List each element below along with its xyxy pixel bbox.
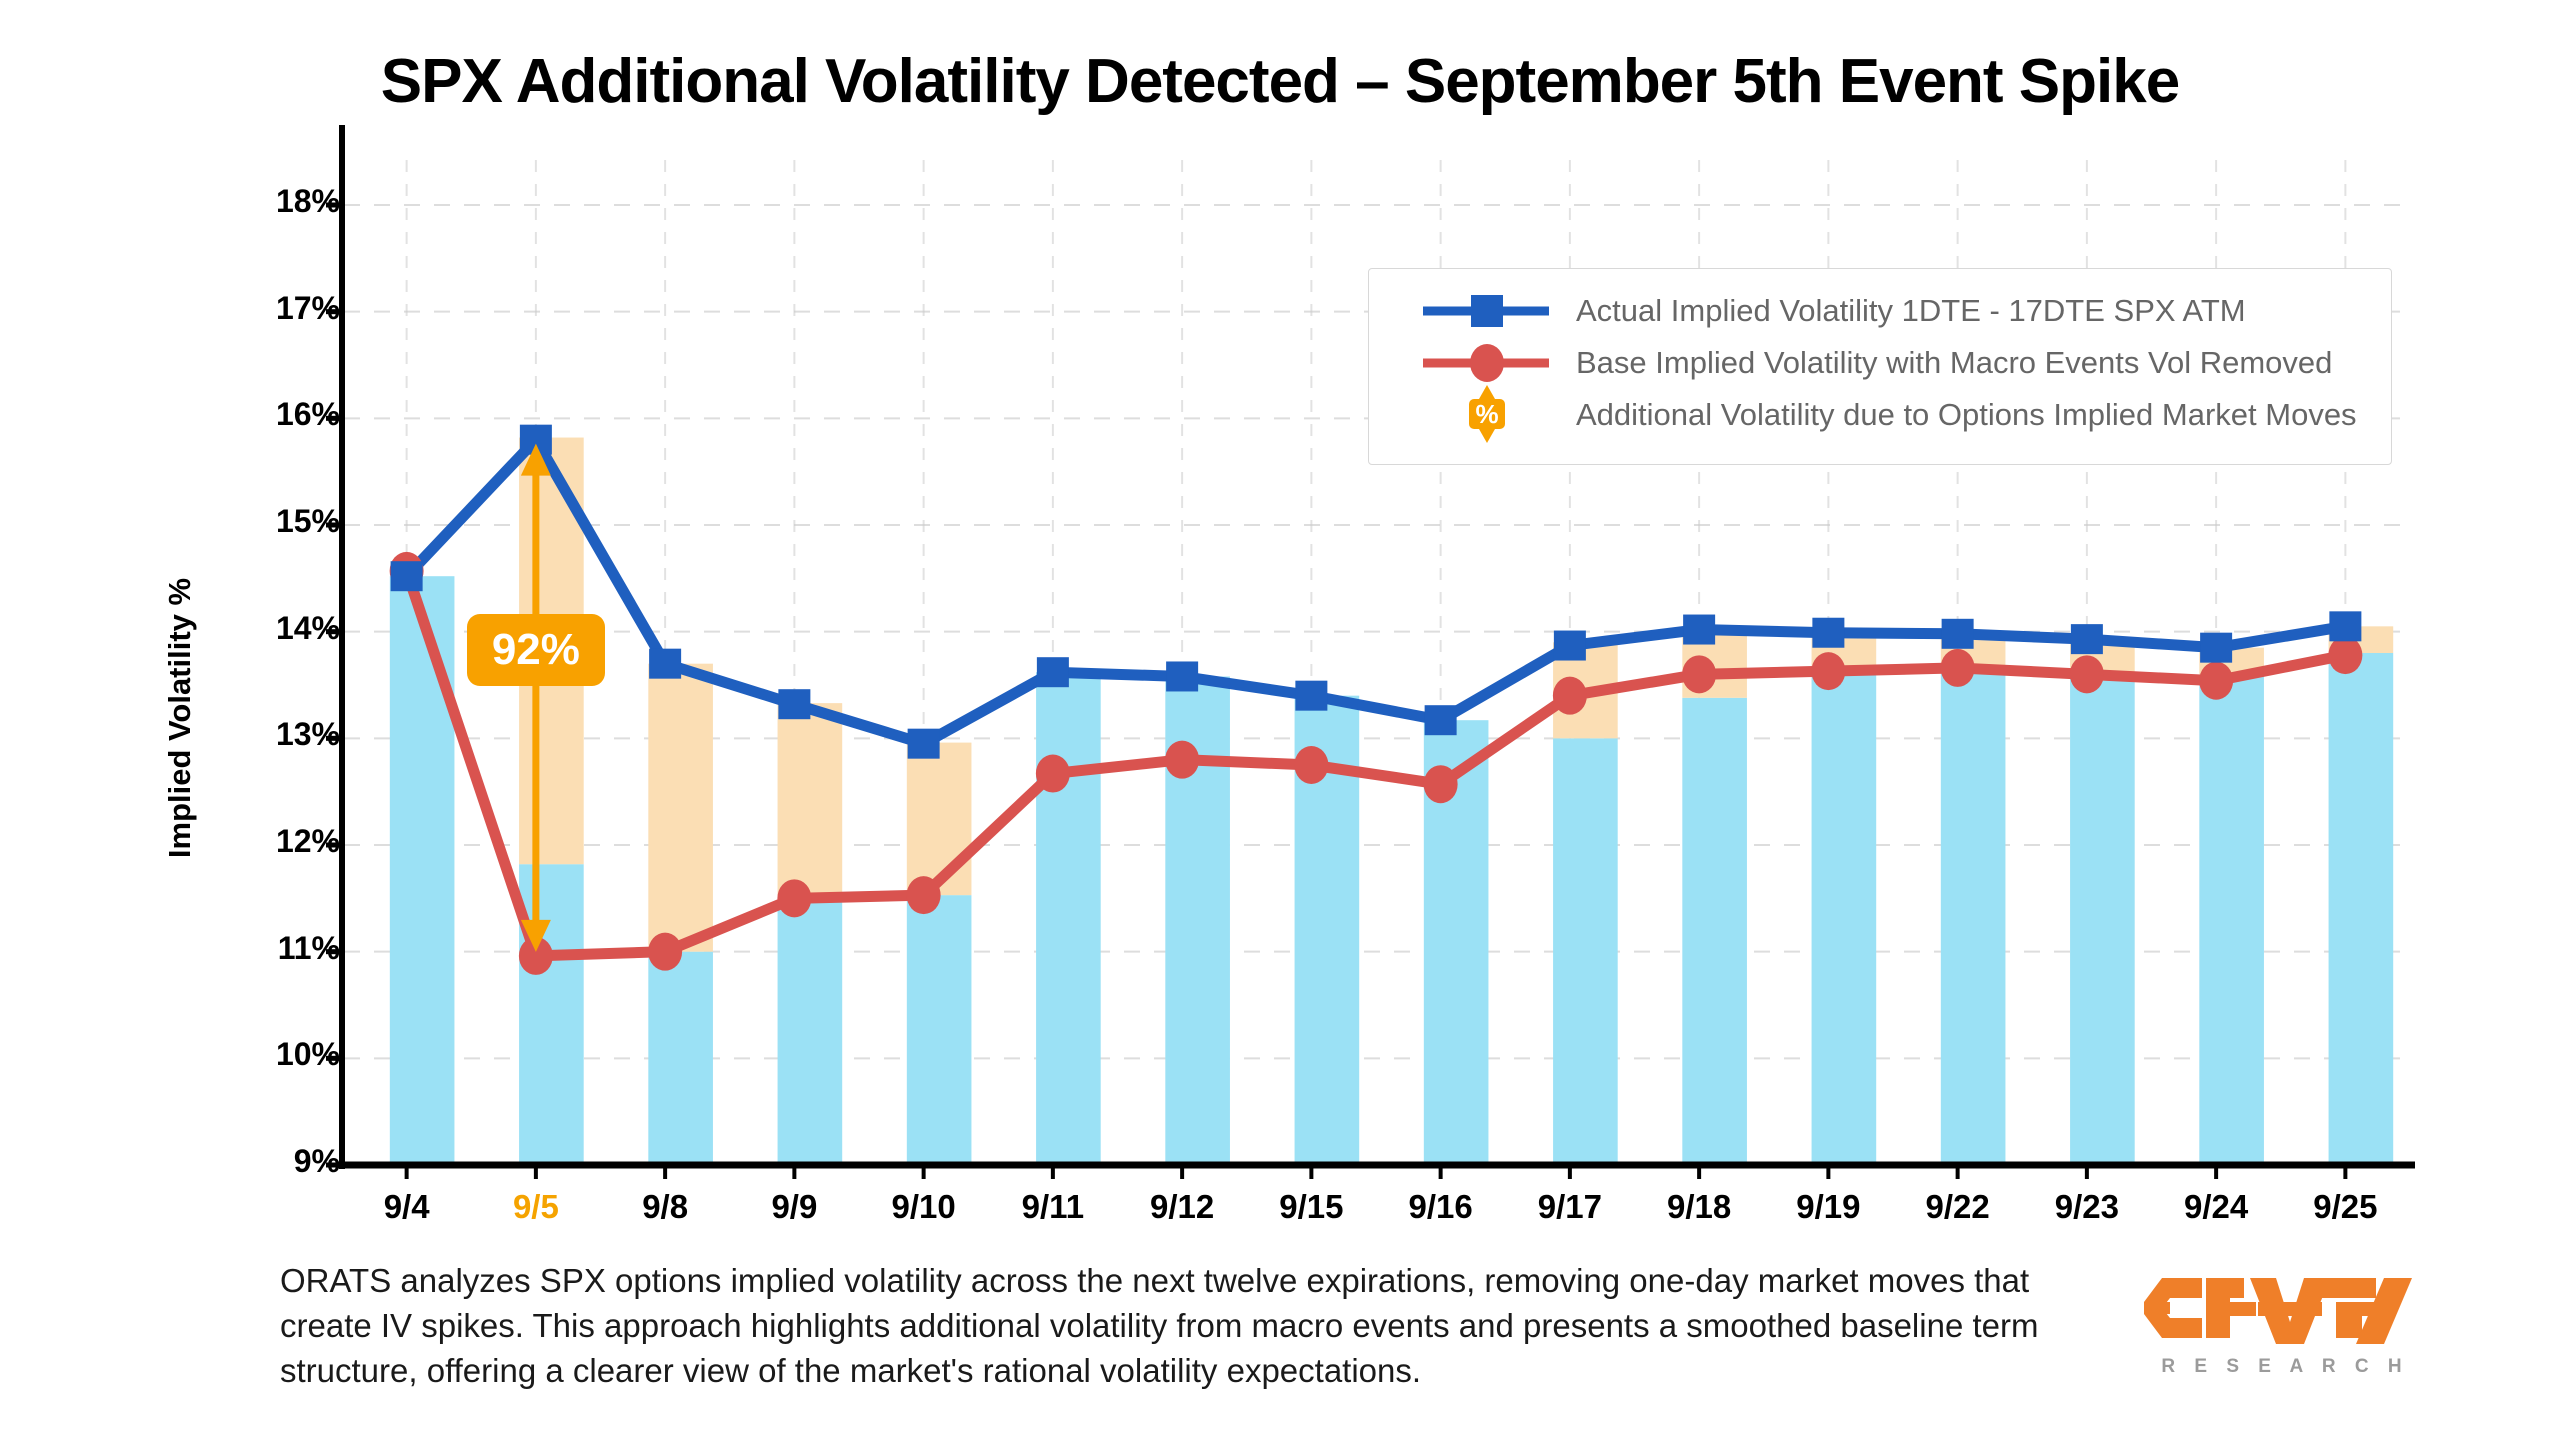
x-tick-9-25: 9/25	[2265, 1188, 2425, 1226]
legend-item-actual[interactable]: Actual Implied Volatility 1DTE - 17DTE S…	[1391, 285, 2371, 337]
footer-description: ORATS analyzes SPX options implied volat…	[280, 1258, 2110, 1393]
legend-marker-percent-arrows-icon: %	[1421, 389, 1551, 441]
legend-label-base: Base Implied Volatility with Macro Event…	[1576, 337, 2332, 389]
legend-item-base[interactable]: Base Implied Volatility with Macro Event…	[1391, 337, 2371, 389]
chart-legend: Actual Implied Volatility 1DTE - 17DTE S…	[1368, 268, 2392, 465]
svg-text:%: %	[1475, 399, 1498, 429]
annotation-badge-92: 92%	[467, 614, 605, 686]
legend-item-additional[interactable]: % Additional Volatility due to Options I…	[1391, 389, 2371, 441]
legend-label-actual: Actual Implied Volatility 1DTE - 17DTE S…	[1576, 285, 2246, 337]
chart-page: SPX Additional Volatility Detected – Sep…	[0, 0, 2560, 1440]
legend-marker-circle-line	[1421, 337, 1551, 389]
orats-logo-subtitle: R E S E A R C H	[2140, 1356, 2430, 1378]
legend-marker-square-line	[1421, 285, 1551, 337]
legend-label-additional: Additional Volatility due to Options Imp…	[1576, 389, 2357, 441]
